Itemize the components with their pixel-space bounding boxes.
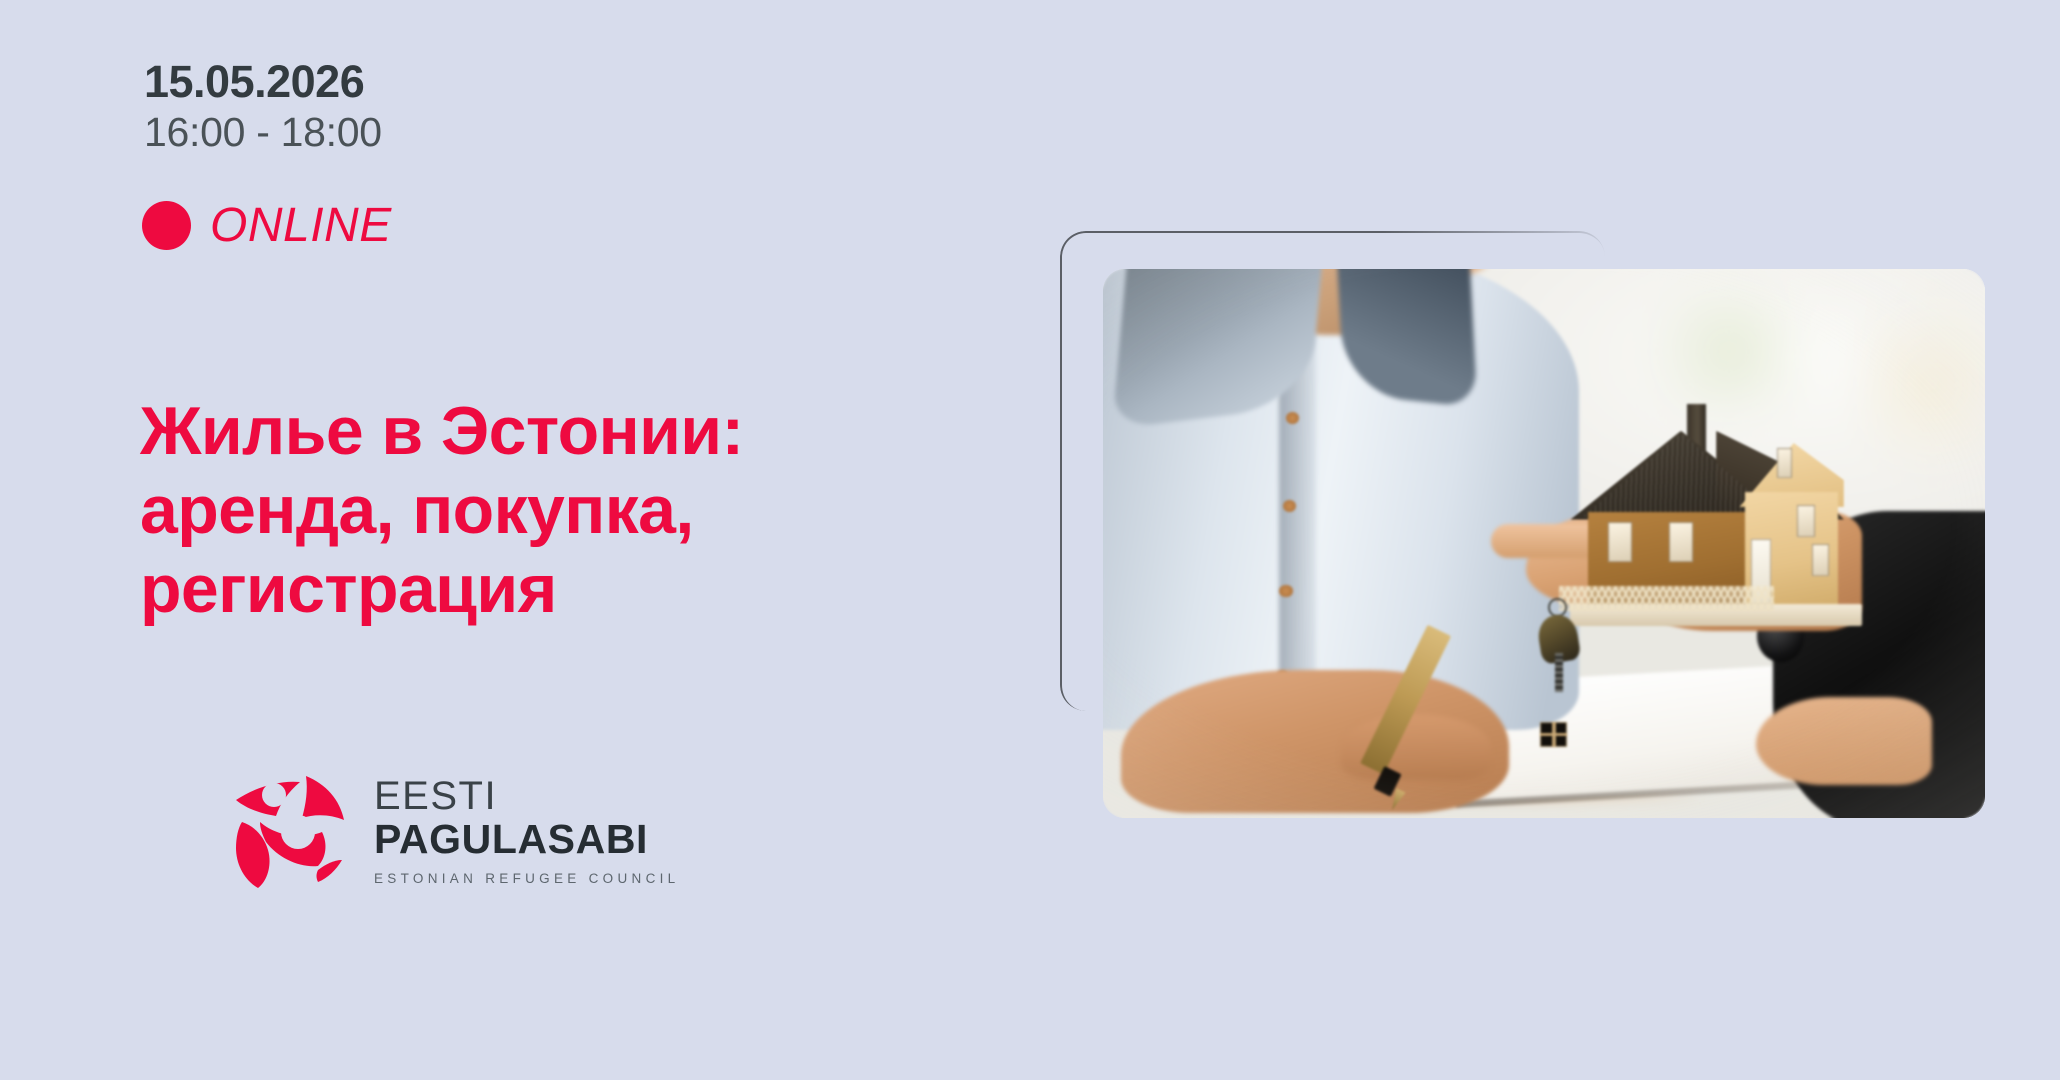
event-photo [1103,269,1985,818]
event-format-badge: ONLINE [142,198,392,253]
event-format-label: ONLINE [210,198,392,253]
model-house [1570,379,1861,626]
organization-logo: EESTI PAGULASABI ESTONIAN REFUGEE COUNCI… [230,770,679,888]
key-chain [1555,653,1562,691]
logo-tagline: ESTONIAN REFUGEE COUNCIL [374,871,679,886]
picket-fence [1559,586,1774,611]
event-date: 15.05.2026 [144,58,382,106]
shirt-button [1279,585,1292,598]
event-date-block: 15.05.2026 16:00 - 18:00 [144,58,382,156]
photo-scene [1103,269,1985,818]
refugee-council-figures-icon [230,770,352,888]
second-hand [1756,697,1932,785]
house-window [1669,522,1692,562]
photo-region [1060,225,2060,845]
shirt-button [1286,412,1299,425]
background-blur-warm [1862,280,1985,489]
logo-wordmark: EESTI PAGULASABI ESTONIAN REFUGEE COUNCI… [374,772,679,885]
event-time: 16:00 - 18:00 [144,110,382,156]
house-window [1777,448,1792,478]
poster-left-column: 15.05.2026 16:00 - 18:00 ONLINE Жилье в … [122,0,952,1080]
event-title: Жилье в Эстонии: аренда, покупка, регист… [140,392,930,629]
hand-knuckles [1341,714,1491,780]
house-window [1812,544,1829,576]
logo-name-line-1: EESTI [374,776,679,816]
house-window [1797,505,1814,537]
red-dot-icon [142,201,191,250]
house-window [1608,522,1631,562]
keychain-window-bar [1552,722,1556,747]
logo-name-line-2: PAGULASABI [374,818,679,861]
